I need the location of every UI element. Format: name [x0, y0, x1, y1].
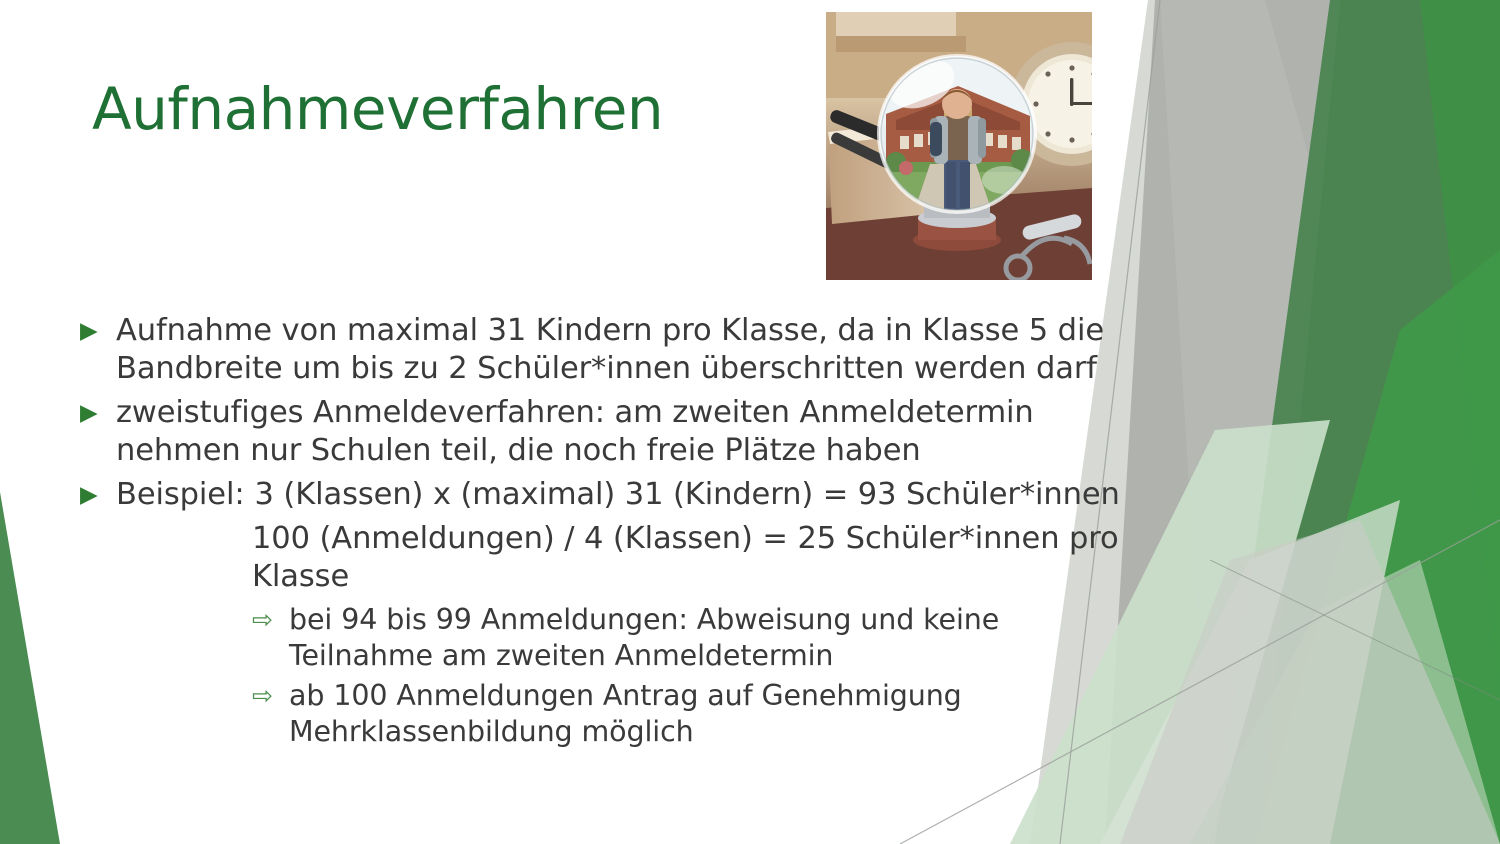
deco-shape-green-pale-2 [1100, 500, 1400, 844]
bullet-item-1: ▶ Aufnahme von maximal 31 Kindern pro Kl… [72, 312, 1137, 388]
sub-bullet-text-2: ab 100 Anmeldungen Antrag auf Genehmigun… [289, 678, 1137, 750]
deco-shape-green-bright [1255, 250, 1500, 844]
slide-image [826, 12, 1092, 280]
bullet-text-2: zweistufiges Anmeldeverfahren: am zweite… [116, 394, 1137, 470]
triangle-bullet-icon: ▶ [72, 476, 116, 514]
sub-bullet-item-1: ⇨ bei 94 bis 99 Anmeldungen: Abweisung u… [116, 602, 1137, 674]
deco-shape-green-soft [1190, 560, 1500, 844]
bullet-text-3: Beispiel:3 (Klassen) x (maximal) 31 (Kin… [116, 476, 1137, 514]
bullet-text-1: Aufnahme von maximal 31 Kindern pro Klas… [116, 312, 1137, 388]
bullet-item-3: ▶ Beispiel:3 (Klassen) x (maximal) 31 (K… [72, 476, 1137, 514]
triangle-bullet-icon: ▶ [72, 312, 116, 350]
deco-shape-gray-4 [1120, 520, 1500, 844]
bullet-text-3-value: 3 (Klassen) x (maximal) 31 (Kindern) = 9… [255, 477, 1120, 512]
bullet-continuation-line: 100 (Anmeldungen) / 4 (Klassen) = 25 Sch… [116, 520, 1137, 596]
presentation-slide: Aufnahmeverfahren [0, 0, 1500, 844]
deco-hairline-3 [1210, 560, 1500, 700]
deco-shape-green-dark [1260, 0, 1500, 844]
deco-shape-green-mid [1215, 0, 1500, 844]
slide-body: ▶ Aufnahme von maximal 31 Kindern pro Kl… [72, 312, 1137, 754]
sub-bullet-item-2: ⇨ ab 100 Anmeldungen Antrag auf Genehmig… [116, 678, 1137, 750]
arrow-right-bullet-icon: ⇨ [252, 678, 289, 714]
triangle-bullet-icon: ▶ [72, 394, 116, 432]
deco-shape-left-green [0, 492, 60, 844]
deco-shape-gray-2 [1105, 0, 1415, 844]
sub-bullet-text-1: bei 94 bis 99 Anmeldungen: Abweisung und… [289, 602, 1137, 674]
slide-title: Aufnahmeverfahren [92, 78, 792, 142]
bullet-item-2: ▶ zweistufiges Anmeldeverfahren: am zwei… [72, 394, 1137, 470]
bullet-label-beispiel: Beispiel: [116, 477, 245, 512]
deco-shape-gray-3 [1160, 0, 1500, 844]
arrow-right-bullet-icon: ⇨ [252, 602, 289, 638]
